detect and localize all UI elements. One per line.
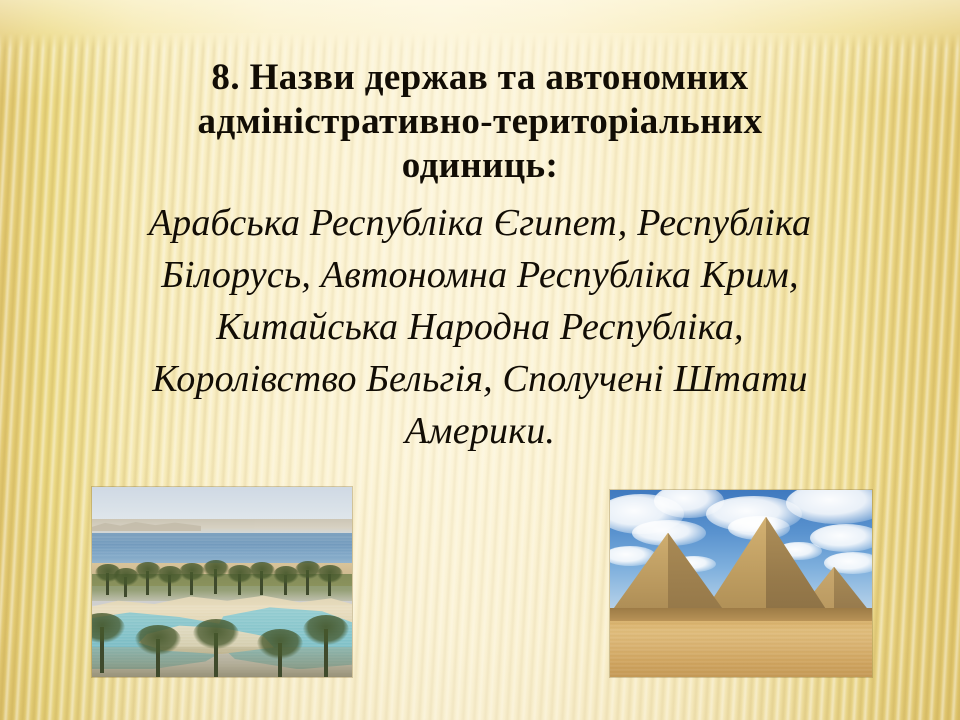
slide-text-block: 8. Назви держав та автономних адміністра… [40, 56, 920, 457]
slide-title-line-2: адміністративно-територіальних [40, 100, 920, 144]
slide-body-line-3: Китайська Народна Республіка, [40, 301, 920, 353]
palm-tree-icon [278, 643, 282, 677]
slide-body-line-5: Америки. [40, 405, 920, 457]
photo-sand-texture [610, 621, 872, 677]
palm-tree-icon [146, 571, 149, 595]
palm-tree-icon [238, 574, 241, 595]
slide-body-line-2: Білорусь, Автономна Республіка Крим, [40, 249, 920, 301]
palm-tree-icon [214, 633, 218, 677]
palm-tree-icon [324, 629, 328, 677]
slide-title-line-3: одиниць: [40, 144, 920, 188]
palm-tree-icon [260, 571, 263, 595]
palm-tree-icon [190, 572, 193, 595]
palm-tree-icon [124, 577, 127, 597]
palm-tree-icon [328, 574, 331, 596]
palm-tree-icon [100, 627, 104, 673]
palm-tree-icon [306, 570, 309, 595]
slide-body-line-4: Королівство Бельгія, Сполучені Штати [40, 353, 920, 405]
palm-tree-icon [214, 569, 217, 594]
slide-title-line-1: 8. Назви держав та автономних [40, 56, 920, 100]
slide-body-line-1: Арабська Республіка Єгипет, Республіка [40, 197, 920, 249]
photo-foreground [92, 647, 352, 677]
palm-tree-icon [106, 573, 109, 595]
photo-sea-glint [92, 536, 352, 557]
palm-tree-icon [284, 575, 287, 595]
presentation-slide: 8. Назви держав та автономних адміністра… [0, 0, 960, 720]
resort-beach-photo [92, 487, 352, 677]
giza-pyramids-photo [610, 490, 872, 677]
palm-tree-icon [156, 639, 160, 677]
palm-tree-icon [168, 575, 171, 596]
